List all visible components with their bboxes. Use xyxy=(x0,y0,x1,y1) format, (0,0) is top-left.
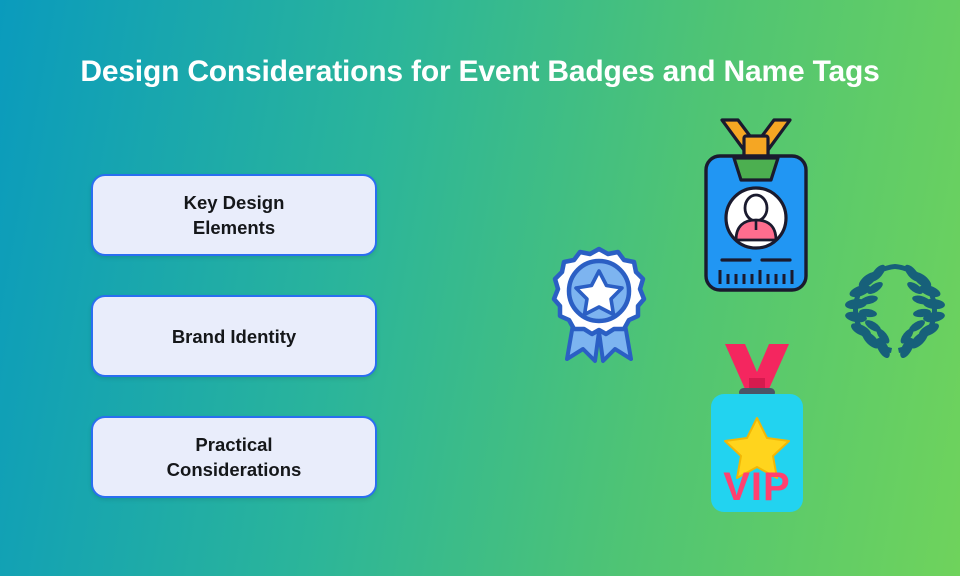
card-label: Brand Identity xyxy=(160,324,308,349)
slide-canvas: Design Considerations for Event Badges a… xyxy=(0,0,960,576)
laurel-wreath-illustration xyxy=(845,258,945,363)
card-stack: Key Design Elements Brand Identity Pract… xyxy=(91,174,377,498)
card-brand-identity[interactable]: Brand Identity xyxy=(91,295,377,377)
id-card-badge-illustration xyxy=(698,118,814,303)
award-rosette-icon xyxy=(545,245,653,367)
vip-badge-icon: VIP xyxy=(705,342,809,516)
card-key-design-elements[interactable]: Key Design Elements xyxy=(91,174,377,256)
laurel-wreath-icon xyxy=(845,258,945,358)
page-title: Design Considerations for Event Badges a… xyxy=(0,52,960,92)
id-card-badge-icon xyxy=(698,118,814,298)
svg-text:VIP: VIP xyxy=(723,465,790,509)
card-label: Practical Considerations xyxy=(155,432,314,482)
award-rosette-illustration xyxy=(545,245,653,372)
card-practical-considerations[interactable]: Practical Considerations xyxy=(91,416,377,498)
card-label: Key Design Elements xyxy=(172,190,297,240)
vip-badge-illustration: VIP xyxy=(705,342,809,521)
